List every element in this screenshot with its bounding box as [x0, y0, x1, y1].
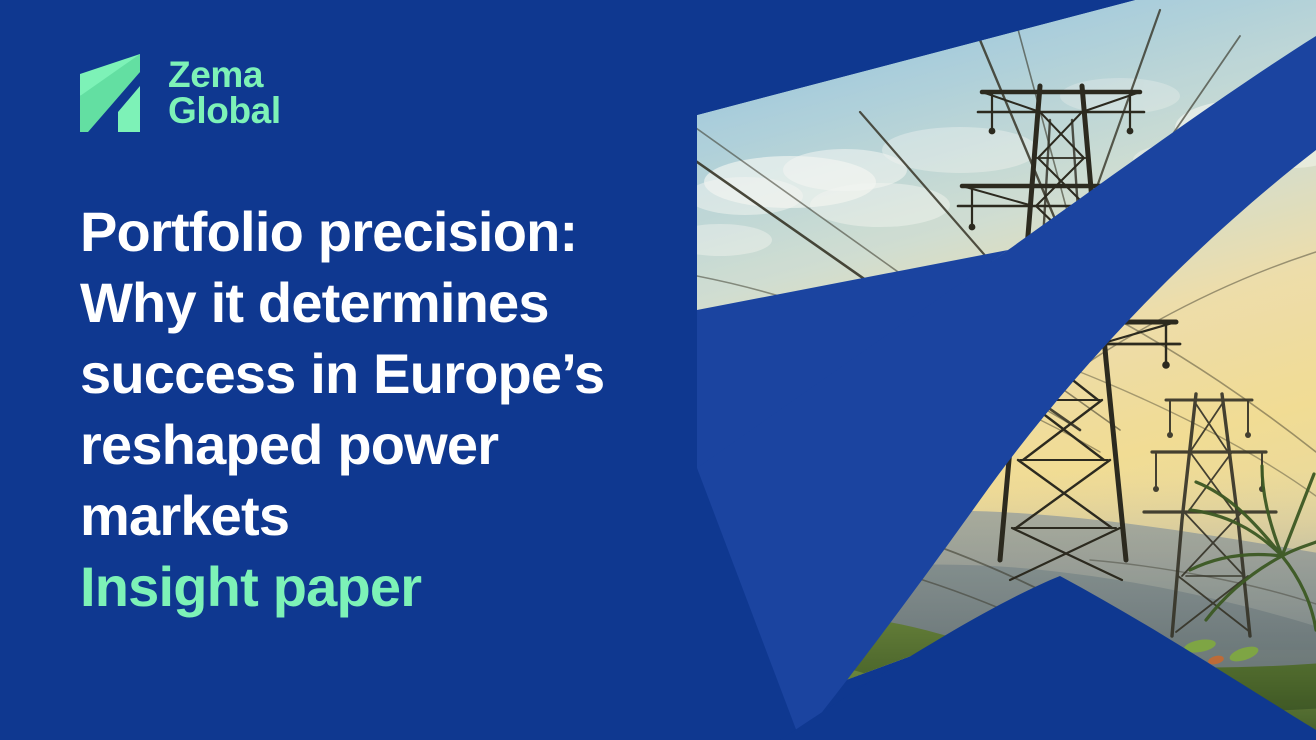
blue-trim-bottom — [780, 576, 1316, 740]
page-title: Portfolio precision: Why it determines s… — [80, 196, 680, 551]
sunset-sky — [640, 0, 1316, 740]
brand-wordmark-line-1: Zema — [168, 57, 281, 93]
document-type-label: Insight paper — [80, 551, 680, 622]
palm-fronds — [1190, 466, 1316, 630]
shrub-highlights — [949, 637, 1260, 715]
photo-group — [640, 0, 1316, 740]
top-blue-triangle — [697, 0, 1135, 115]
ridge-near — [640, 565, 1316, 740]
headline-line-4: reshaped power — [80, 409, 680, 480]
zema-z-mark-icon — [78, 52, 152, 134]
ridge-far — [640, 511, 1316, 740]
power-pylon-distant — [1144, 394, 1276, 636]
power-pylon-large — [944, 86, 1180, 580]
brand-wordmark-line-2: Global — [168, 93, 281, 129]
headline-line-2: Why it determines — [80, 267, 680, 338]
blue-arrow-upper — [697, 250, 1008, 468]
cover-page: Zema Global Portfolio precision: Why it … — [0, 0, 1316, 740]
clouds — [668, 78, 1316, 256]
blue-trim-bottom-left — [697, 468, 800, 740]
hillside-foliage — [640, 466, 1316, 740]
brand-logo[interactable]: Zema Global — [78, 52, 281, 134]
headline-line-1: Portfolio precision: — [80, 196, 680, 267]
transmission-lines — [680, 10, 1316, 636]
headline-line-5: markets — [80, 480, 680, 551]
headline-line-3: success in Europe’s — [80, 338, 680, 409]
cover-headline-block: Portfolio precision: Why it determines s… — [80, 196, 680, 622]
blue-arrow-band — [697, 36, 1316, 740]
valley-haze — [640, 470, 1316, 650]
brand-wordmark: Zema Global — [168, 57, 281, 130]
city-skyline-haze — [760, 466, 825, 504]
